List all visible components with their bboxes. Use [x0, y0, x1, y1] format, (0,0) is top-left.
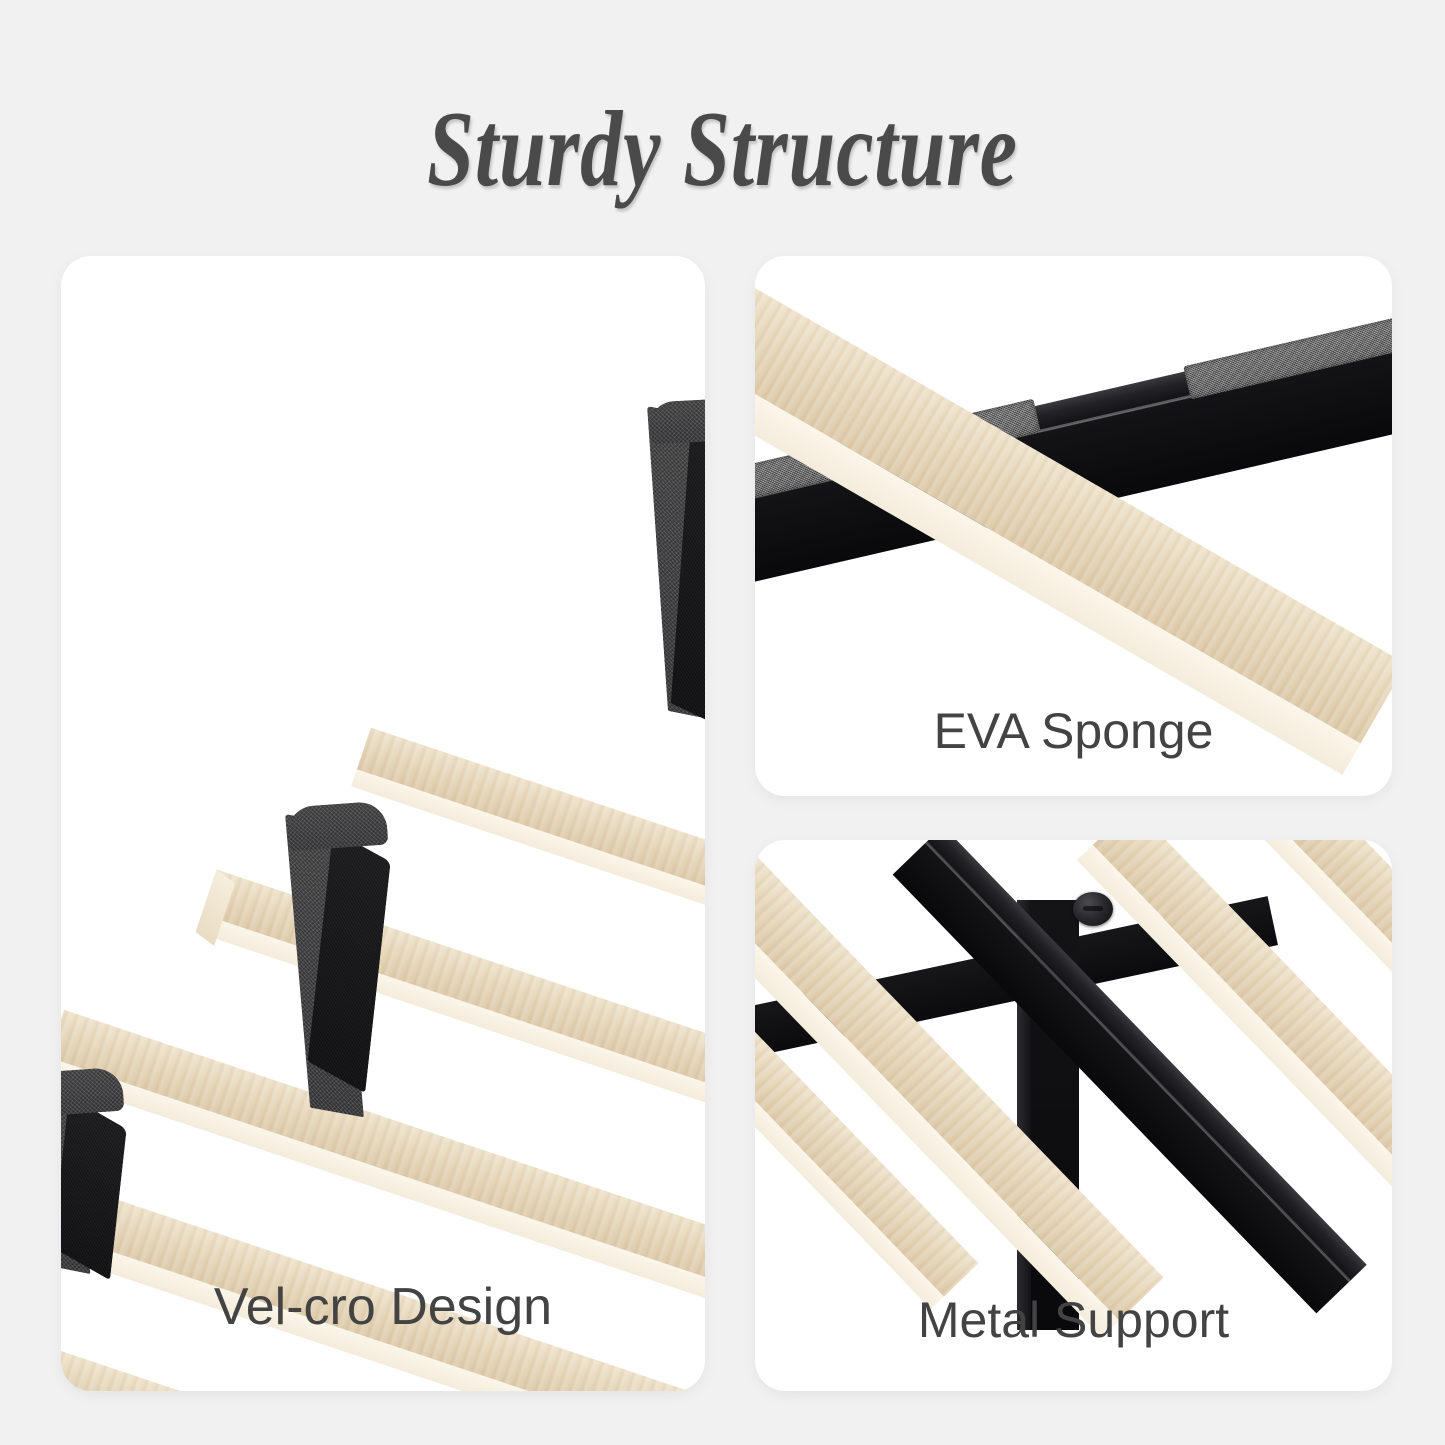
card-caption-velcro: Vel-cro Design	[61, 1277, 705, 1337]
card-caption-metal-support: Metal Support	[755, 1291, 1392, 1349]
velcro-strap	[61, 1056, 253, 1296]
card-metal-support[interactable]: Metal Support	[755, 840, 1392, 1391]
card-velcro-design[interactable]: Vel-cro Design	[61, 256, 705, 1391]
card-eva-sponge[interactable]: EVA Sponge	[755, 256, 1392, 796]
page-title: Sturdy Structure	[159, 88, 1286, 212]
velcro-strap	[647, 406, 705, 751]
card-caption-eva-sponge: EVA Sponge	[755, 702, 1392, 760]
velcro-illustration	[61, 256, 705, 1391]
bolt-icon	[1073, 892, 1113, 926]
velcro-strap	[285, 786, 535, 1116]
